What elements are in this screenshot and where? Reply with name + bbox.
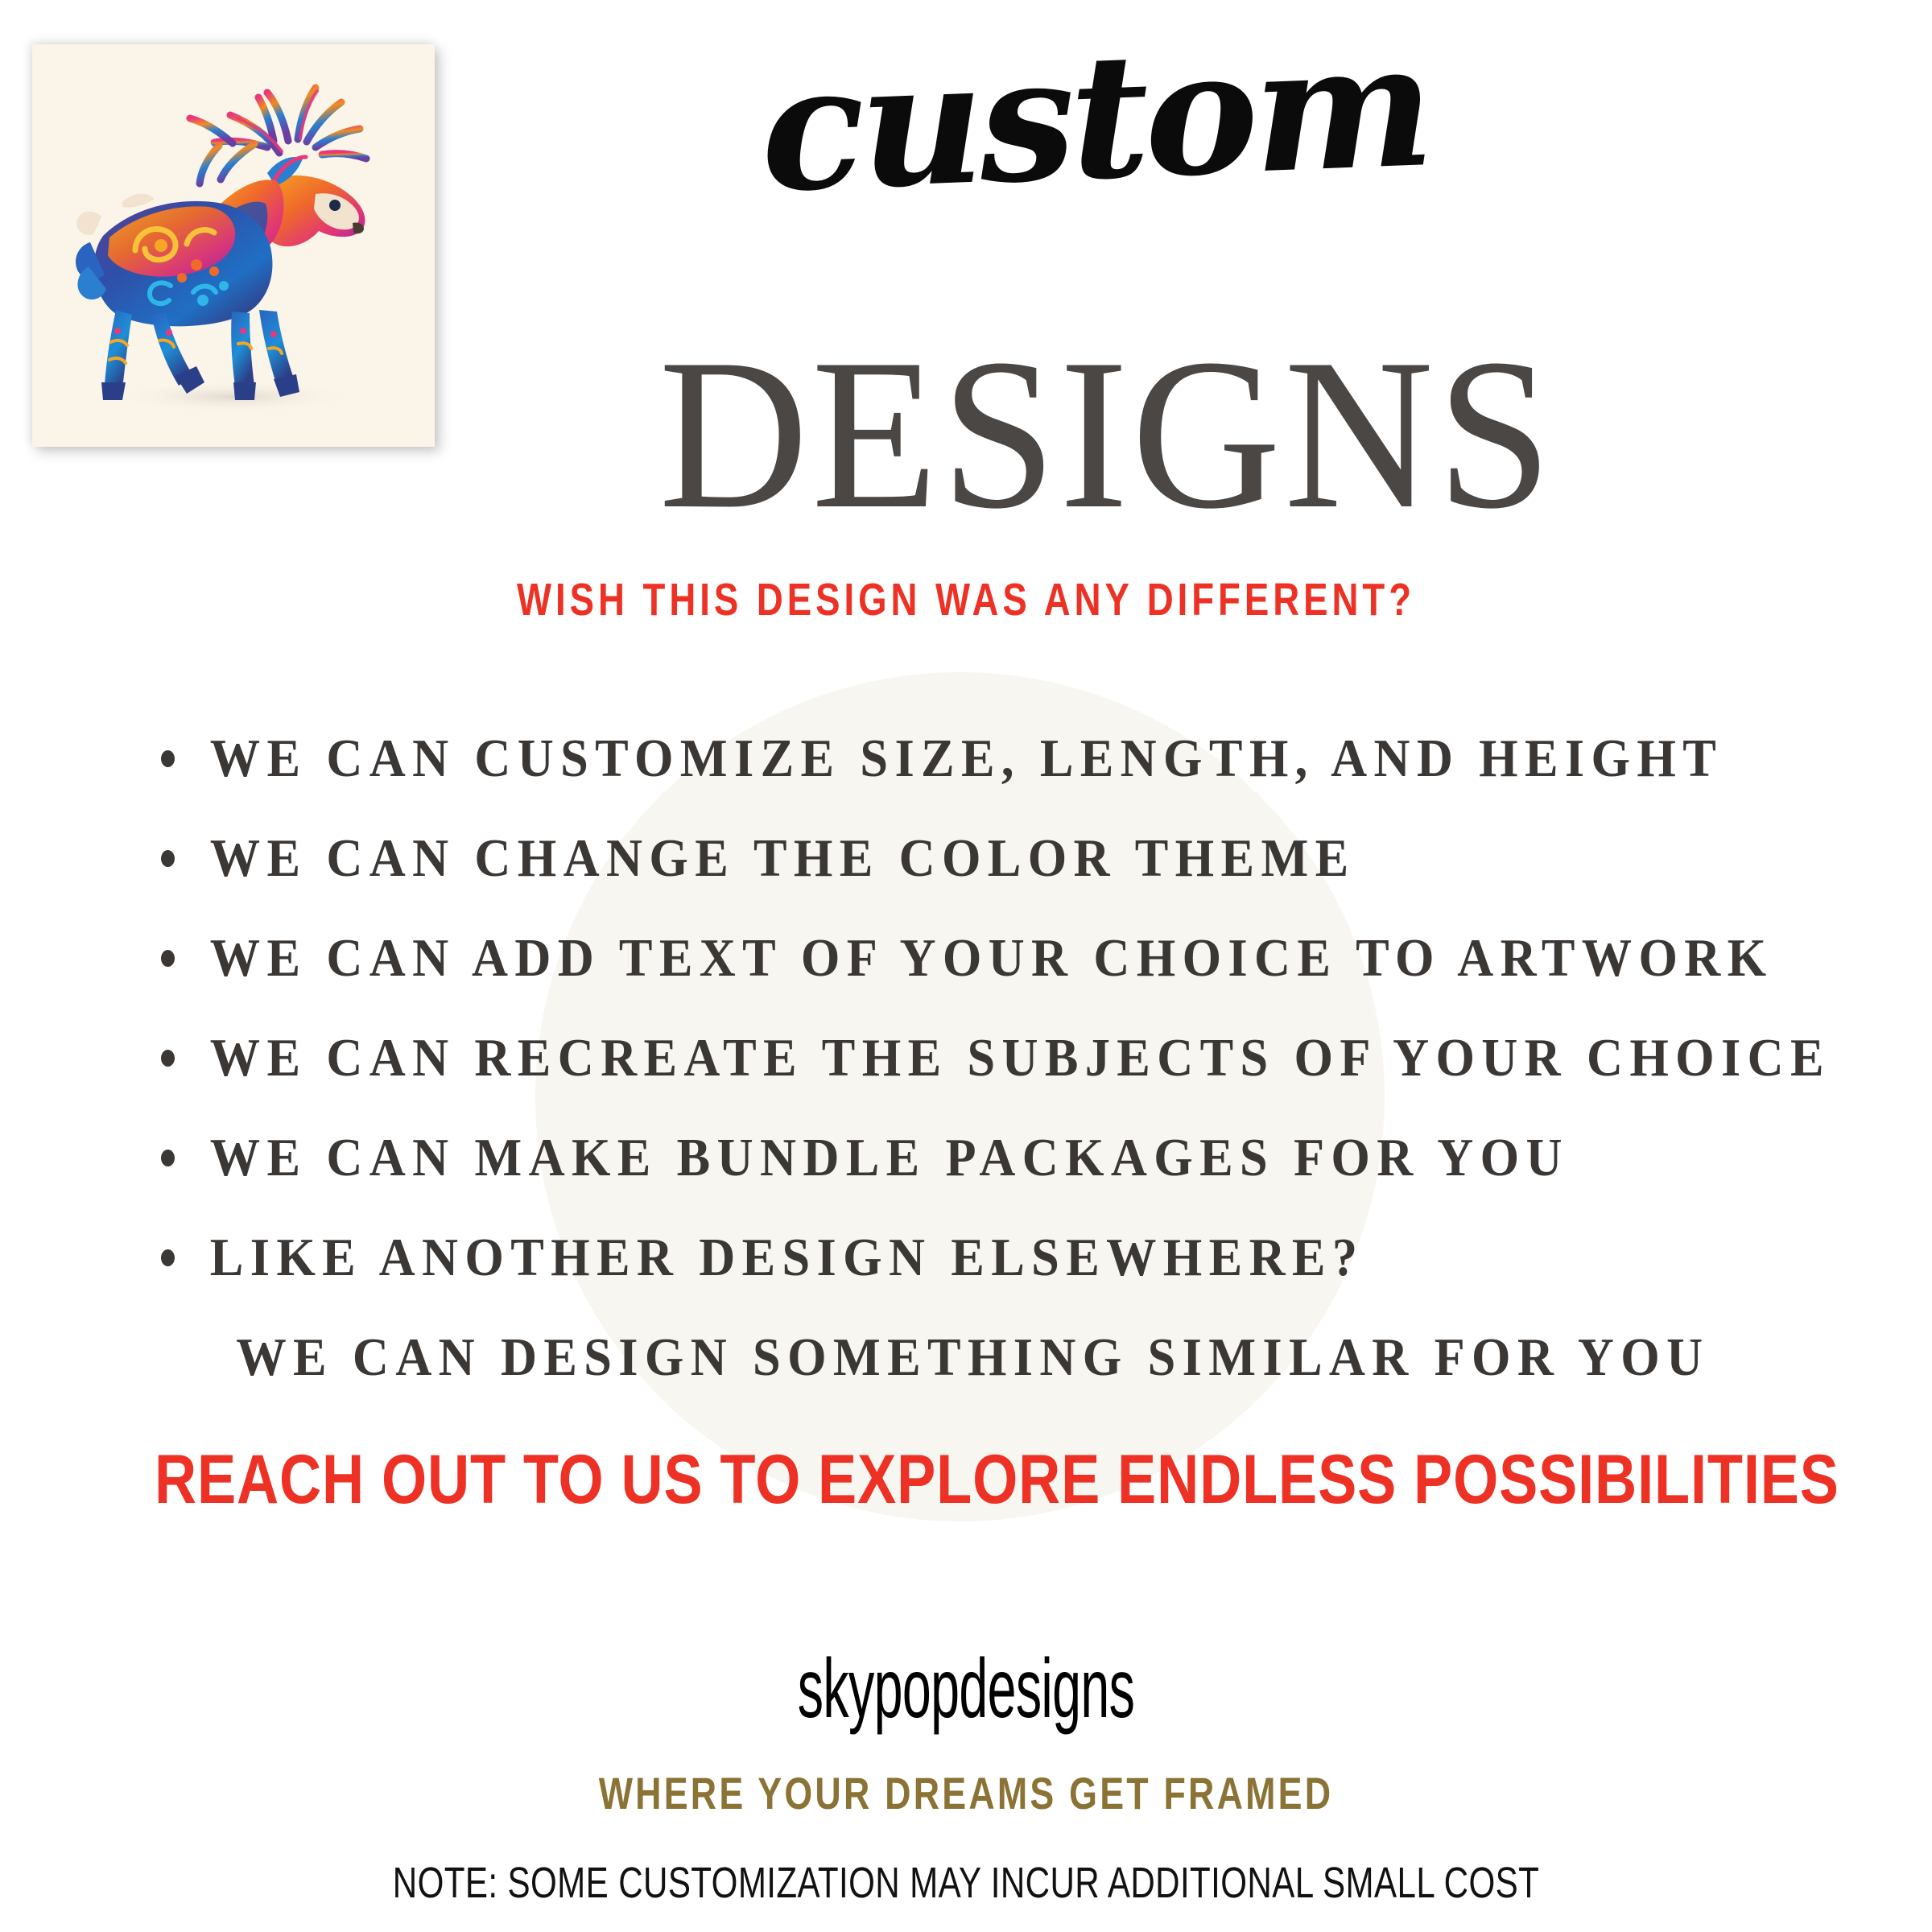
list-item-label: WE CAN DESIGN SOMETHING SIMILAR FOR YOU xyxy=(165,1331,1709,1385)
list-item: WE CAN RECREATE THE SUBJECTS OF YOUR CHO… xyxy=(0,1008,1932,1108)
promo-poster: custom DESIGNS WISH THIS DESIGN WAS ANY … xyxy=(0,0,1932,1932)
brand-logo-text: skypopdesigns xyxy=(367,1647,1565,1731)
list-item-label: WE CAN RECREATE THE SUBJECTS OF YOUR CHO… xyxy=(165,1031,1831,1085)
brand-tagline: WHERE YOUR DREAMS GET FRAMED xyxy=(193,1771,1739,1816)
feature-list: WE CAN CUSTOMIZE SIZE, LENGTH, AND HEIGH… xyxy=(0,708,1932,1407)
script-title: custom xyxy=(126,0,1932,240)
list-item: WE CAN ADD TEXT OF YOUR CHOICE TO ARTWOR… xyxy=(0,908,1932,1008)
list-item: WE CAN MAKE BUNDLE PACKAGES FOR YOU xyxy=(0,1108,1932,1207)
list-item-continuation: WE CAN DESIGN SOMETHING SIMILAR FOR YOU xyxy=(0,1307,1932,1407)
page-title: DESIGNS xyxy=(180,326,1932,542)
list-item-label: WE CAN MAKE BUNDLE PACKAGES FOR YOU xyxy=(165,1131,1569,1185)
list-item: LIKE ANOTHER DESIGN ELSEWHERE? xyxy=(0,1207,1932,1307)
list-item-label: LIKE ANOTHER DESIGN ELSEWHERE? xyxy=(165,1231,1364,1285)
list-item: WE CAN CUSTOMIZE SIZE, LENGTH, AND HEIGH… xyxy=(0,708,1932,808)
list-item-label: WE CAN CHANGE THE COLOR THEME xyxy=(165,832,1356,885)
list-item-label: WE CAN ADD TEXT OF YOUR CHOICE TO ARTWOR… xyxy=(165,931,1773,985)
list-item-label: WE CAN CUSTOMIZE SIZE, LENGTH, AND HEIGH… xyxy=(165,732,1723,786)
call-to-action[interactable]: REACH OUT TO US TO EXPLORE ENDLESS POSSI… xyxy=(155,1445,1777,1514)
list-item: WE CAN CHANGE THE COLOR THEME xyxy=(0,808,1932,908)
subtitle: WISH THIS DESIGN WAS ANY DIFFERENT? xyxy=(193,577,1739,623)
footer-note: NOTE: SOME CUSTOMIZATION MAY INCUR ADDIT… xyxy=(213,1861,1719,1905)
